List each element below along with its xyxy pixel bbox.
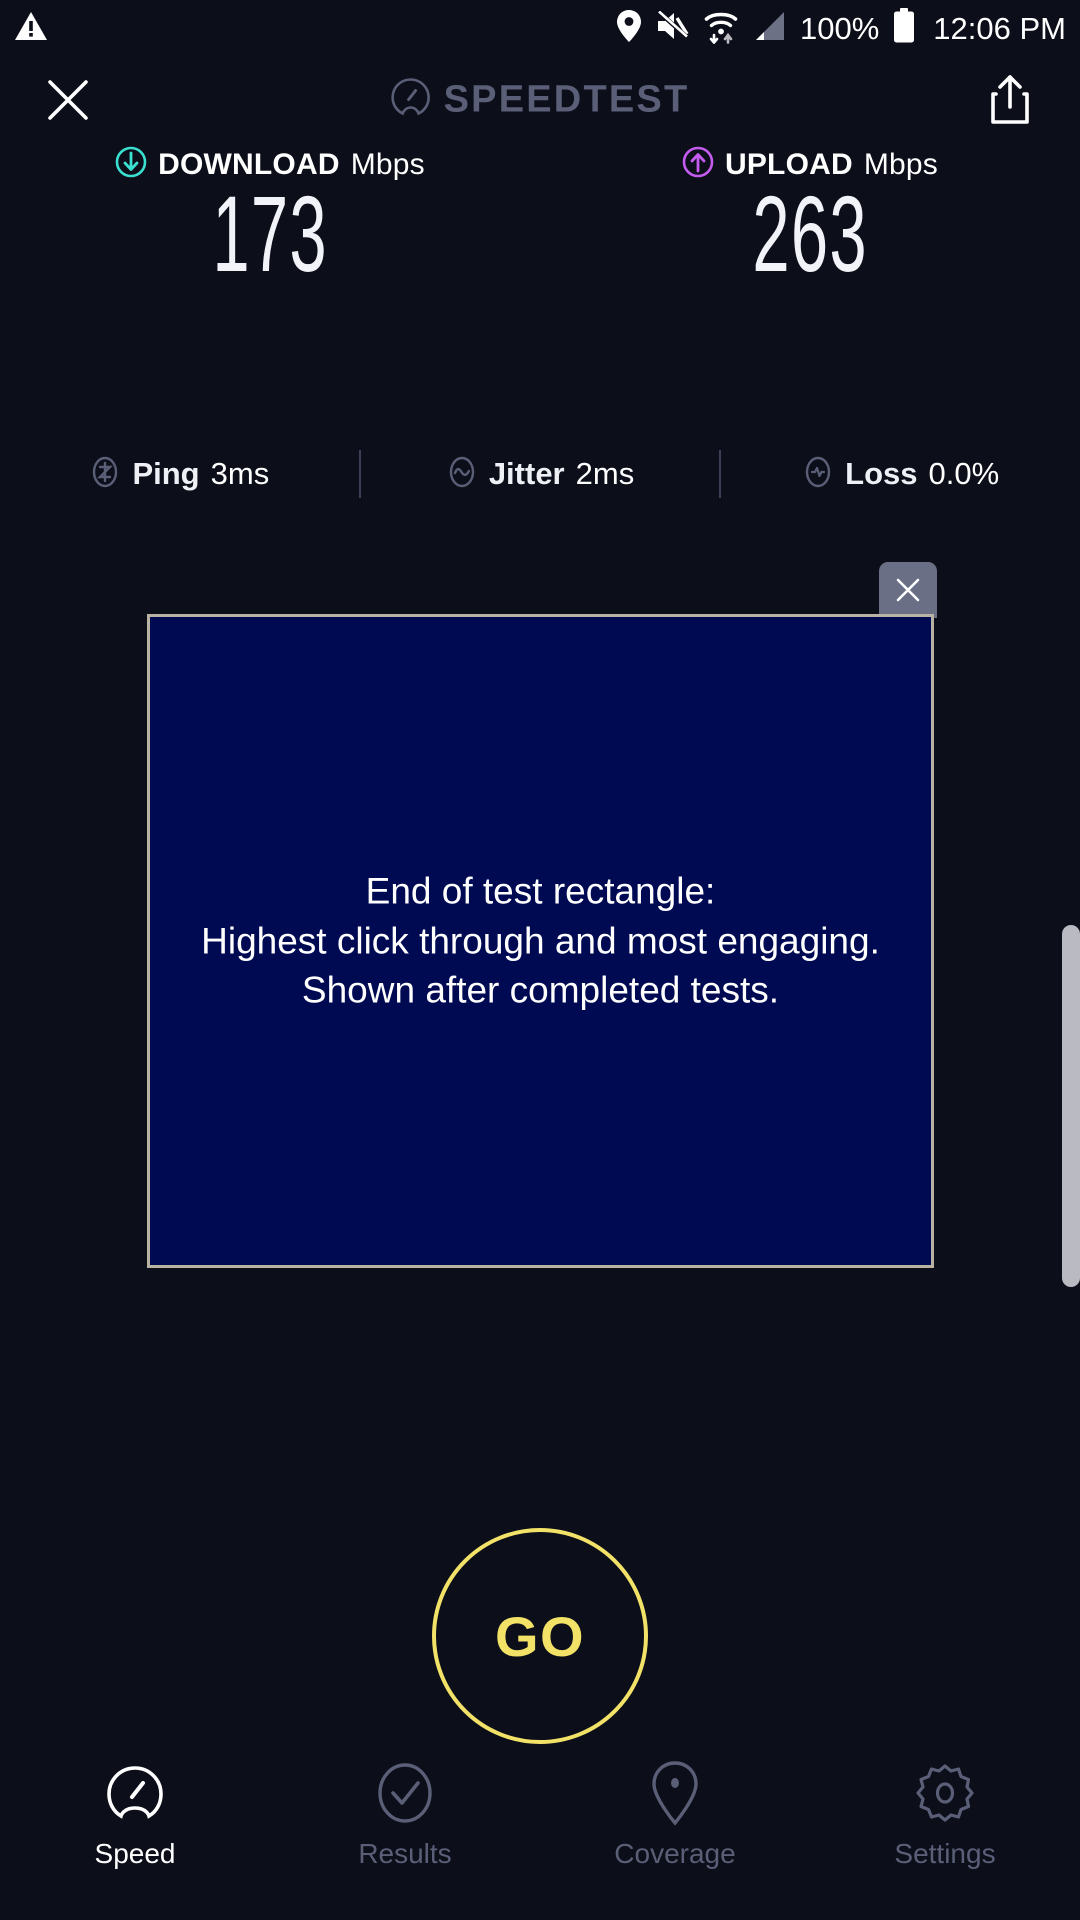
vertical-scrollbar[interactable] xyxy=(1062,925,1080,1287)
arrow-down-circle-icon xyxy=(115,146,147,183)
nav-label-speed: Speed xyxy=(95,1838,176,1870)
upload-unit: Mbps xyxy=(864,148,938,182)
bottom-navigation: Speed Results Coverage xyxy=(0,1750,1080,1920)
upload-value: 263 xyxy=(752,179,867,289)
cell-signal-icon xyxy=(752,10,786,47)
status-bar-left xyxy=(14,10,48,47)
speed-readouts: DOWNLOAD Mbps 173 UPLOAD Mbps 263 xyxy=(0,146,1080,289)
battery-percentage: 100% xyxy=(800,13,879,44)
map-pin-icon xyxy=(649,1762,701,1824)
nav-item-coverage[interactable]: Coverage xyxy=(540,1762,810,1920)
metric-jitter-name: Jitter xyxy=(489,456,565,492)
warning-triangle-icon xyxy=(14,10,48,47)
location-icon xyxy=(616,9,642,48)
gear-icon xyxy=(914,1762,976,1824)
nav-label-settings: Settings xyxy=(894,1838,995,1870)
metric-jitter-value: 2ms xyxy=(576,456,635,492)
metric-loss-value: 0.0% xyxy=(929,456,1000,492)
ad-close-button[interactable] xyxy=(879,562,937,618)
speedometer-icon xyxy=(391,78,431,123)
nav-label-results: Results xyxy=(358,1838,451,1870)
status-bar: 100% 12:06 PM xyxy=(0,0,1080,56)
jitter-icon xyxy=(446,456,478,493)
go-button-label: GO xyxy=(495,1604,585,1669)
download-unit: Mbps xyxy=(351,148,425,182)
ad-banner[interactable]: End of test rectangle: Highest click thr… xyxy=(147,614,934,1268)
check-circle-icon xyxy=(375,1762,435,1824)
close-button[interactable] xyxy=(38,70,98,130)
metrics-row: Ping 3ms Jitter 2ms xyxy=(0,446,1080,502)
nav-label-coverage: Coverage xyxy=(614,1838,735,1870)
share-icon[interactable] xyxy=(982,70,1038,130)
nav-item-results[interactable]: Results xyxy=(270,1762,540,1920)
battery-full-icon xyxy=(893,8,915,49)
ad-text: End of test rectangle: Highest click thr… xyxy=(147,867,934,1016)
loss-icon xyxy=(802,456,834,493)
speedometer-icon xyxy=(105,1762,165,1824)
wifi-icon xyxy=(704,8,738,49)
metric-loss-name: Loss xyxy=(845,456,917,492)
results-section: DOWNLOAD Mbps 173 UPLOAD Mbps 263 xyxy=(0,146,1080,289)
metric-jitter: Jitter 2ms xyxy=(361,456,720,493)
app-header: SPEEDTEST xyxy=(0,58,1080,142)
status-bar-right: 100% 12:06 PM xyxy=(616,8,1066,49)
metric-ping-name: Ping xyxy=(132,456,199,492)
nav-item-settings[interactable]: Settings xyxy=(810,1762,1080,1920)
metric-ping-value: 3ms xyxy=(211,456,270,492)
arrow-up-circle-icon xyxy=(682,146,714,183)
status-bar-clock: 12:06 PM xyxy=(933,13,1066,44)
brand-title: SPEEDTEST xyxy=(444,79,690,122)
download-readout: DOWNLOAD Mbps 173 xyxy=(0,146,540,289)
brand: SPEEDTEST xyxy=(391,78,690,123)
mute-icon xyxy=(656,11,690,46)
speedtest-app-screen: 100% 12:06 PM SPEEDTEST xyxy=(0,0,1080,1920)
upload-readout: UPLOAD Mbps 263 xyxy=(540,146,1080,289)
metric-loss: Loss 0.0% xyxy=(721,456,1080,493)
go-button[interactable]: GO xyxy=(432,1528,648,1744)
nav-item-speed[interactable]: Speed xyxy=(0,1762,270,1920)
ping-icon xyxy=(89,456,121,493)
metric-ping: Ping 3ms xyxy=(0,456,359,493)
download-value: 173 xyxy=(212,179,327,289)
